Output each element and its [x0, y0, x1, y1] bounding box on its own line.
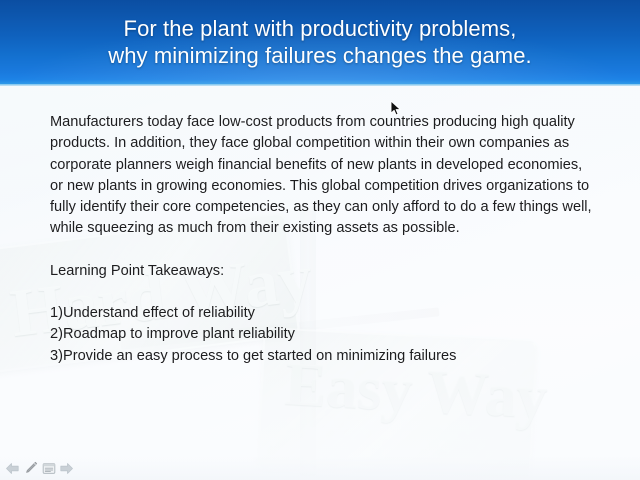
slide-root: For the plant with productivity problems…	[0, 0, 640, 480]
left-arrow-icon	[5, 462, 20, 475]
slide-content: Manufacturers today face low-cost produc…	[50, 112, 598, 367]
notes-icon	[42, 462, 56, 475]
annotate-button[interactable]	[22, 460, 39, 476]
list-item: 2)Roadmap to improve plant reliability	[50, 324, 598, 345]
list-item: 3)Provide an easy process to get started…	[50, 346, 598, 367]
takeaways-list: 1)Understand effect of reliability 2)Roa…	[50, 303, 598, 367]
bottom-toolbar	[0, 456, 640, 480]
notes-button[interactable]	[40, 460, 57, 476]
next-button[interactable]	[58, 460, 75, 476]
takeaways-heading: Learning Point Takeaways:	[50, 261, 598, 282]
header-banner: For the plant with productivity problems…	[0, 0, 640, 84]
right-arrow-icon	[59, 462, 74, 475]
slide-title-line-1: For the plant with productivity problems…	[124, 15, 517, 42]
slide-title-line-2: why minimizing failures changes the game…	[108, 42, 532, 69]
intro-paragraph: Manufacturers today face low-cost produc…	[50, 112, 598, 240]
previous-button[interactable]	[4, 460, 21, 476]
list-item: 1)Understand effect of reliability	[50, 303, 598, 324]
slide-body: Hard Way Easy Way Manufacturers today fa…	[0, 86, 640, 480]
pencil-icon	[24, 461, 38, 475]
